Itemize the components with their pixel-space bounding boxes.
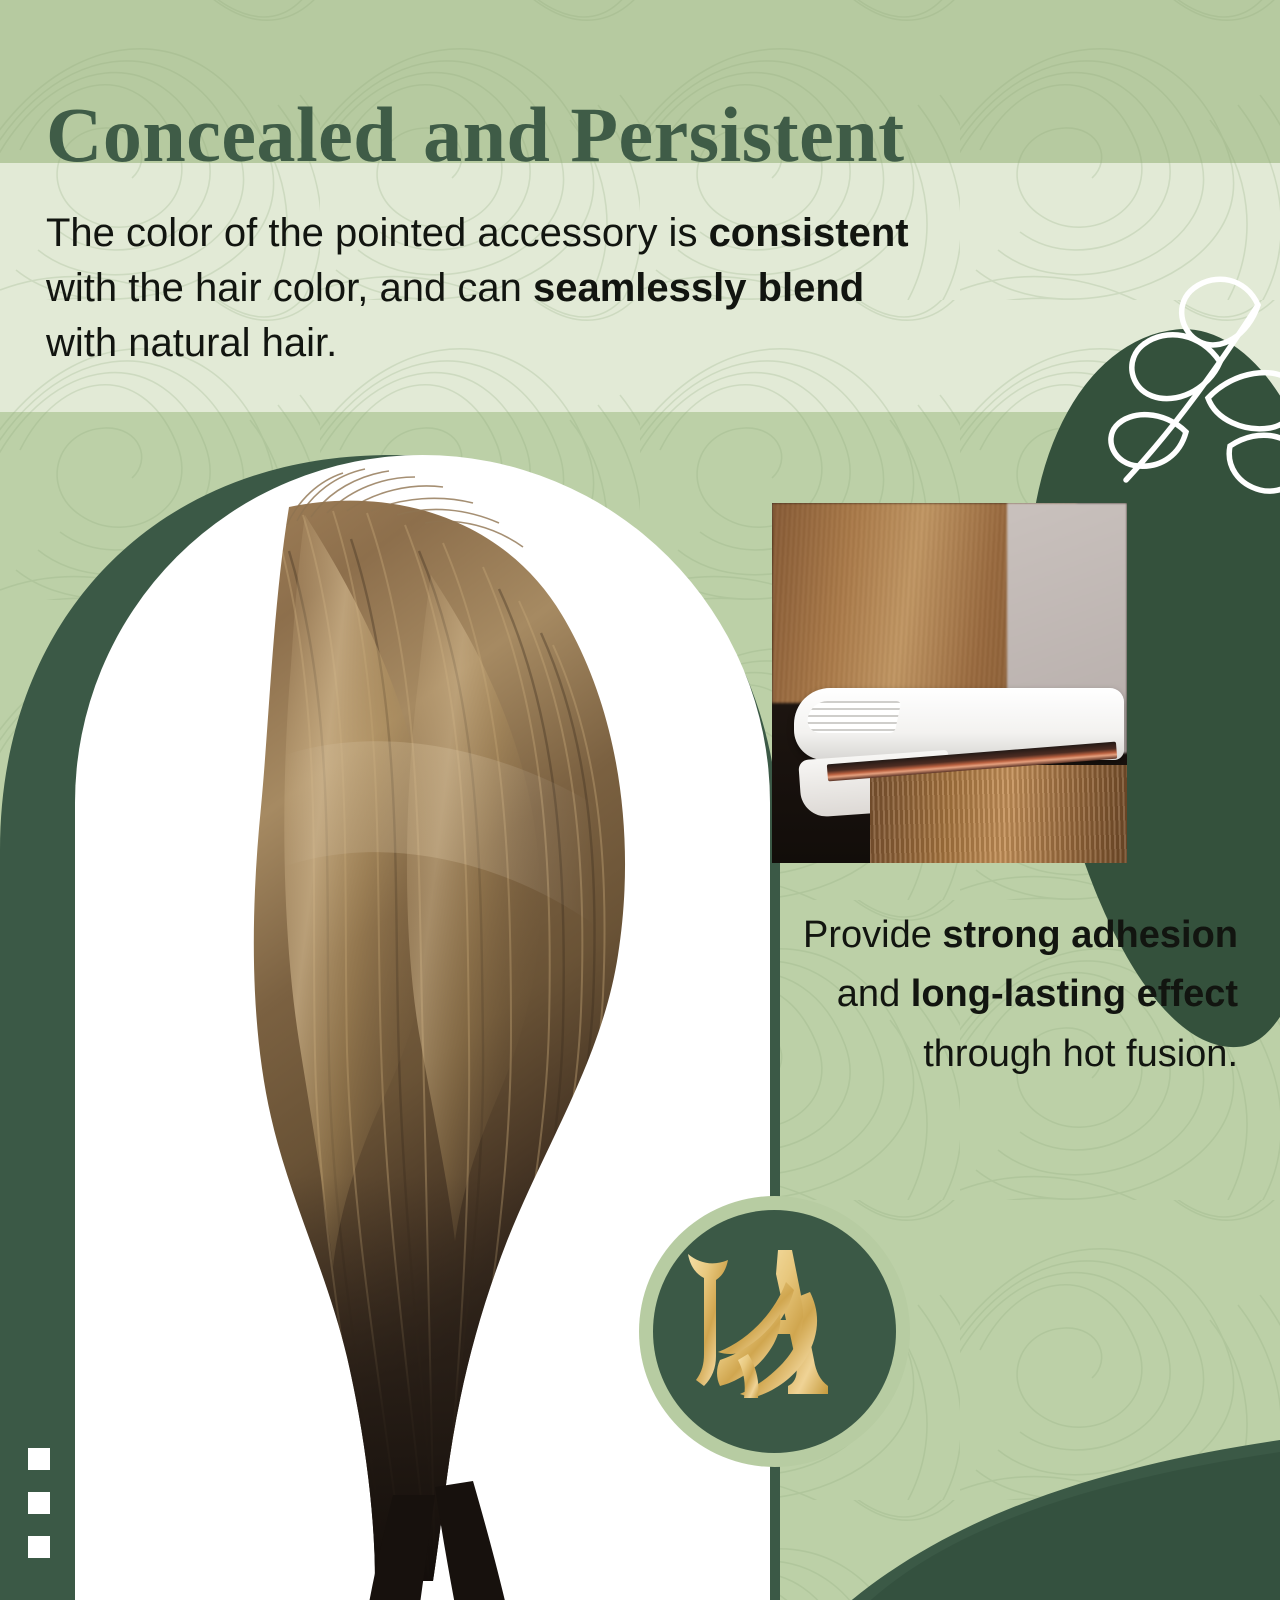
infographic-page: Concealedand Persistent The color of the… (0, 0, 1280, 1600)
title-word-2: and (423, 91, 550, 178)
photo-hair-lower (870, 765, 1127, 863)
decor-dot-column (28, 1448, 50, 1580)
intro-text-3: with natural hair. (46, 321, 337, 365)
intro-emphasis-seamlessly-blend: seamlessly blend (533, 266, 864, 310)
decor-dot (28, 1448, 50, 1470)
intro-paragraph: The color of the pointed accessory is co… (46, 206, 1186, 372)
flat-iron-vents (805, 701, 902, 733)
caption-text-3: through hot fusion. (923, 1033, 1238, 1075)
hair-extension-hero-image (75, 455, 770, 1600)
intro-text-1: The color of the pointed accessory is (46, 211, 709, 255)
flat-iron-photo (772, 503, 1127, 863)
caption-text-1: Provide (803, 914, 942, 956)
caption-emphasis-long-lasting: long-lasting effect (911, 973, 1238, 1015)
intro-emphasis-consistent: consistent (709, 211, 909, 255)
hero-product-panel (75, 455, 770, 1600)
title-word-3: Persistent (570, 91, 904, 178)
title-word-1: Concealed (46, 91, 397, 178)
decor-dot (28, 1492, 50, 1514)
brand-monogram-h-icon (682, 1248, 867, 1418)
feature-caption: Provide strong adhesion and long-lasting… (786, 906, 1238, 1084)
decor-dot (28, 1536, 50, 1558)
page-title: Concealedand Persistent (46, 96, 1246, 174)
caption-emphasis-strong-adhesion: strong adhesion (942, 914, 1238, 956)
intro-text-2: with the hair color, and can (46, 266, 533, 310)
caption-text-2: and (837, 973, 911, 1015)
